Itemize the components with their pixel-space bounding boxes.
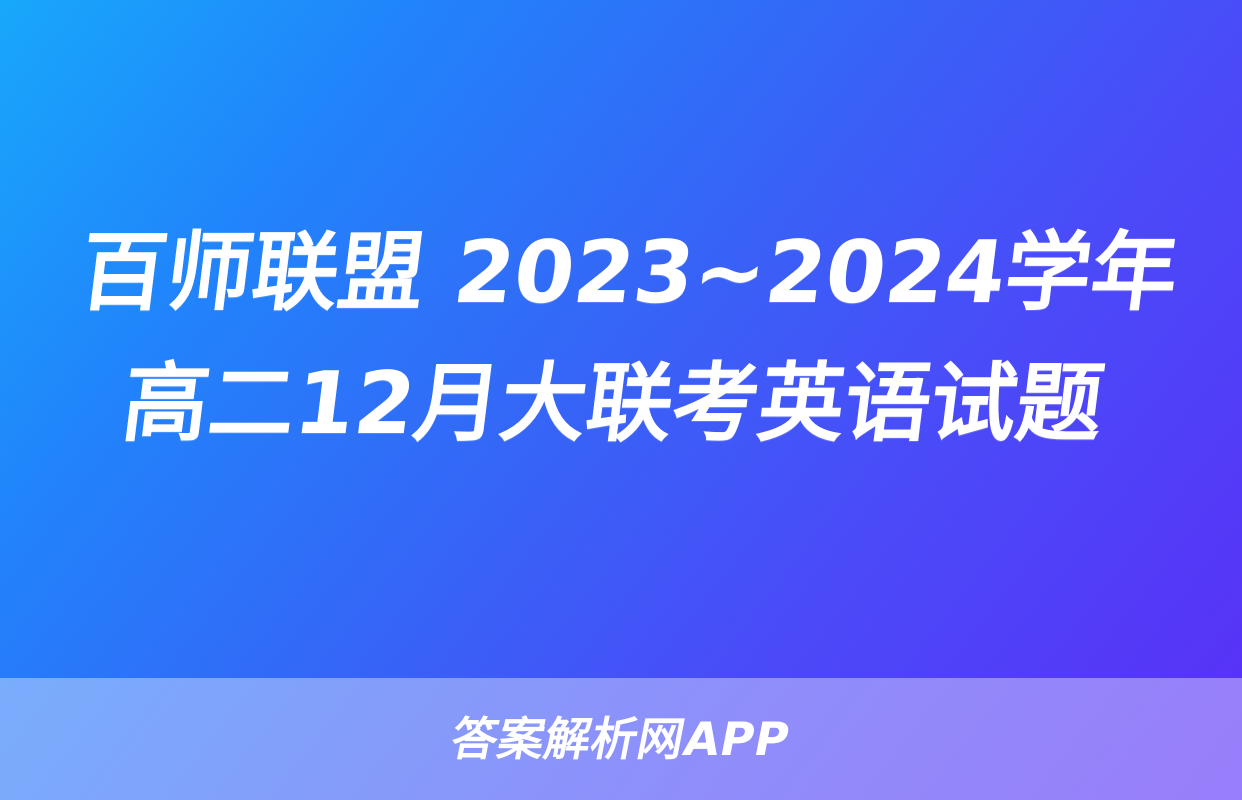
- watermark-text: 答案解析网APP: [448, 716, 794, 762]
- page-title: 百师联盟 2023~2024学年高二12月大联考英语试题: [56, 208, 1186, 469]
- share-card: 百师联盟 2023~2024学年高二12月大联考英语试题 答案解析网APP: [0, 0, 1242, 800]
- watermark-band: 答案解析网APP: [0, 678, 1242, 800]
- title-area: 百师联盟 2023~2024学年高二12月大联考英语试题: [0, 0, 1242, 678]
